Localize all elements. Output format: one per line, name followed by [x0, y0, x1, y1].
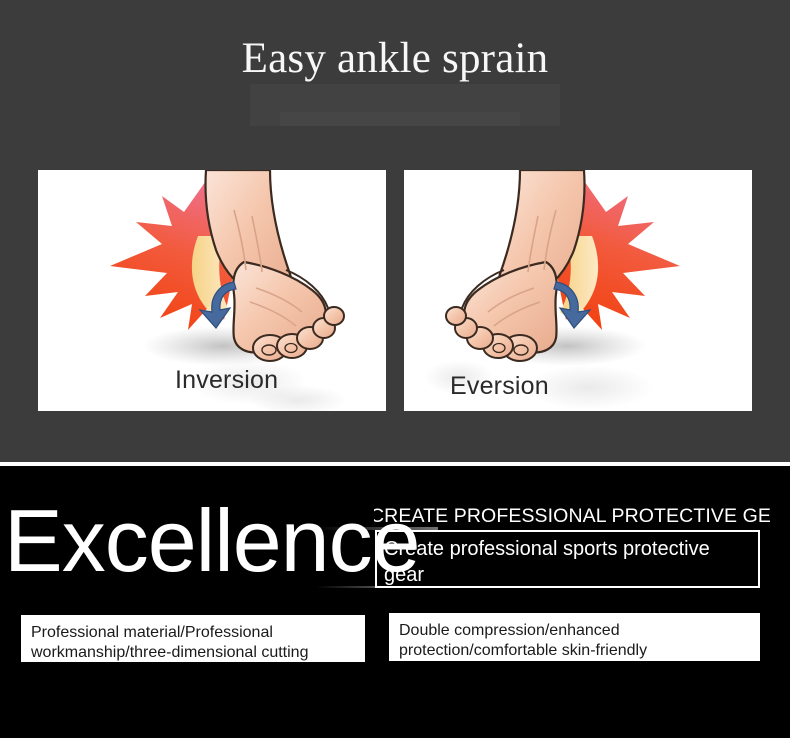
page-title: Easy ankle sprain	[0, 36, 790, 81]
panel-caption-eversion: Eversion	[450, 372, 549, 401]
feature-card-compression: Double compression/enhanced protection/c…	[389, 613, 760, 661]
headline-uppercase: CREATE PROFESSIONAL PROTECTIVE GEAR	[374, 505, 770, 528]
subheadline-text: Create professional sports protective ge…	[384, 536, 750, 588]
subheadline-box: Create professional sports protective ge…	[375, 530, 760, 588]
headline-uppercase-text: CREATE PROFESSIONAL PROTECTIVE GEAR	[374, 505, 770, 528]
panel-inversion: Inversion	[38, 170, 386, 411]
brand-wordmark: Excellence	[4, 497, 420, 585]
feature-card-material: Professional material/Professional workm…	[21, 615, 365, 662]
panel-eversion: Eversion	[404, 170, 752, 411]
ankle-sprain-section: Easy ankle sprain	[0, 0, 790, 462]
panel-caption-inversion: Inversion	[175, 366, 278, 395]
product-banner-page: Easy ankle sprain	[0, 0, 790, 738]
feature-card-material-text: Professional material/Professional workm…	[31, 623, 355, 662]
title-backdrop-block-secondary	[280, 112, 520, 126]
feature-card-compression-text: Double compression/enhanced protection/c…	[399, 621, 750, 661]
